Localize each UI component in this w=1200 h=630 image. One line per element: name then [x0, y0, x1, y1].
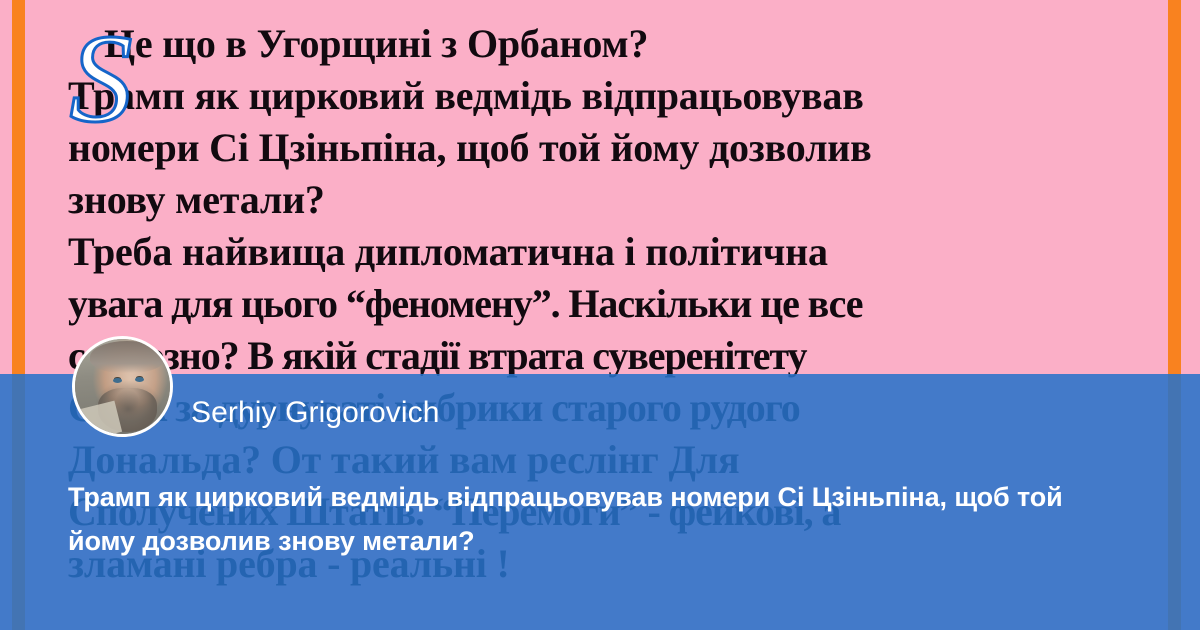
poster-line-2: Трамп як цирковий ведмідь відпрацьовував — [68, 70, 1148, 122]
social-share-card: Це що в Угорщині з Орбаном? Трамп як цир… — [0, 0, 1200, 630]
card-caption: Трамп як цирковий ведмідь відпрацьовував… — [68, 475, 1128, 563]
author-name: Serhiy Grigorovich — [191, 396, 440, 430]
poster-line-5: Треба найвища дипломатична і політична — [68, 226, 1148, 278]
avatar-hair — [90, 341, 164, 373]
poster-line-1: Це що в Угорщині з Орбаном? — [68, 18, 1148, 70]
poster-line-4: знову метали? — [68, 174, 1148, 226]
avatar-eye-left — [113, 378, 122, 383]
author-avatar — [72, 336, 173, 437]
site-logo-s-icon: S — [58, 28, 144, 144]
poster-line-6: увага для цього “феномену”. Наскільки це… — [68, 278, 1148, 330]
avatar-eye-right — [135, 377, 144, 382]
poster-line-3: номери Сі Цзіньпіна, щоб той йому дозвол… — [68, 122, 1148, 174]
